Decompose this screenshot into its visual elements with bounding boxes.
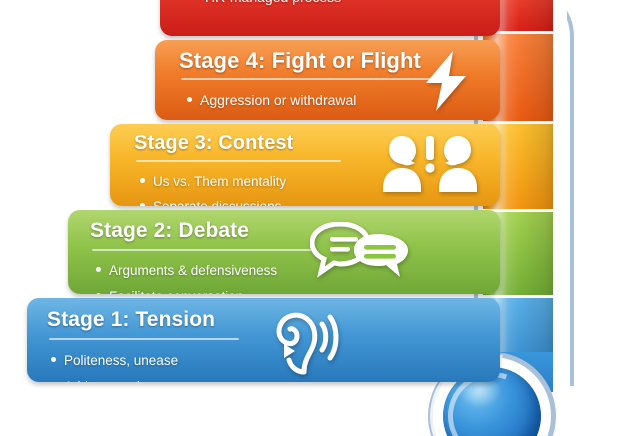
bullet-item: Aggression or withdrawal bbox=[187, 88, 356, 113]
bullet-text: Formal mediation bbox=[200, 113, 308, 120]
infographic-canvas: Stage 5: Damage Legal or HR action HR-ma… bbox=[0, 0, 624, 436]
stage-4-divider bbox=[181, 78, 431, 80]
bullet-item: Separate discussions bbox=[140, 194, 286, 206]
bullet-item: Formal mediation bbox=[187, 113, 356, 120]
stage-3-bullets: Us vs. Them mentality Separate discussio… bbox=[140, 169, 286, 206]
stage-2-title: Stage 2: Debate bbox=[90, 219, 249, 243]
bullet-item: Politeness, unease bbox=[51, 348, 178, 374]
speech-bubbles-icon bbox=[310, 222, 410, 282]
stage-1-title: Stage 1: Tension bbox=[47, 308, 215, 332]
thermometer-bulb-highlight bbox=[458, 378, 502, 408]
bullet-text: Arguments & defensiveness bbox=[109, 258, 277, 284]
bullet-item: Us vs. Them mentality bbox=[140, 169, 286, 194]
bullet-dot-icon bbox=[140, 203, 145, 206]
bullet-dot-icon bbox=[187, 97, 192, 102]
stage-3-divider bbox=[136, 160, 341, 162]
stage-2-divider bbox=[92, 249, 312, 251]
stage-4-title: Stage 4: Fight or Flight bbox=[179, 48, 421, 74]
bullet-dot-icon bbox=[96, 267, 101, 272]
bullet-text: HR-managed process bbox=[205, 0, 341, 10]
bullet-dot-icon bbox=[96, 293, 101, 294]
bullet-text: Politeness, unease bbox=[64, 348, 178, 374]
bullet-dot-icon bbox=[140, 178, 145, 183]
bullet-text: Us vs. Them mentality bbox=[153, 169, 286, 194]
stage-band-1[interactable]: Stage 1: Tension Politeness, unease Addr… bbox=[27, 298, 500, 382]
bullet-text: Separate discussions bbox=[153, 194, 281, 206]
stage-5-bullets: Legal or HR action HR-managed process bbox=[192, 0, 341, 10]
listening-ear-icon bbox=[264, 304, 340, 376]
bullet-text: Aggression or withdrawal bbox=[200, 88, 356, 113]
two-people-arguing-icon bbox=[380, 132, 480, 194]
bullet-text: Address early bbox=[64, 374, 147, 382]
bullet-item: HR-managed process bbox=[192, 0, 341, 10]
bullet-text: Facilitate conversation bbox=[109, 284, 243, 294]
stage-4-bullets: Aggression or withdrawal Formal mediatio… bbox=[187, 88, 356, 120]
stage-band-4[interactable]: Stage 4: Fight or Flight Aggression or w… bbox=[155, 40, 500, 120]
stage-2-bullets: Arguments & defensiveness Facilitate con… bbox=[96, 258, 277, 294]
stage-1-bullets: Politeness, unease Address early bbox=[51, 348, 178, 382]
bullet-item: Arguments & defensiveness bbox=[96, 258, 277, 284]
lightning-bolt-icon bbox=[420, 50, 472, 112]
stage-band-5[interactable]: Stage 5: Damage Legal or HR action HR-ma… bbox=[160, 0, 500, 36]
bullet-dot-icon bbox=[51, 357, 56, 362]
stage-3-title: Stage 3: Contest bbox=[134, 132, 293, 155]
stage-band-2[interactable]: Stage 2: Debate Arguments & defensivenes… bbox=[68, 210, 500, 294]
stage-band-3[interactable]: Stage 3: Contest Us vs. Them mentality S… bbox=[110, 124, 500, 206]
bullet-item: Facilitate conversation bbox=[96, 284, 277, 294]
bullet-item: Address early bbox=[51, 374, 178, 382]
stage-1-divider bbox=[49, 338, 239, 340]
